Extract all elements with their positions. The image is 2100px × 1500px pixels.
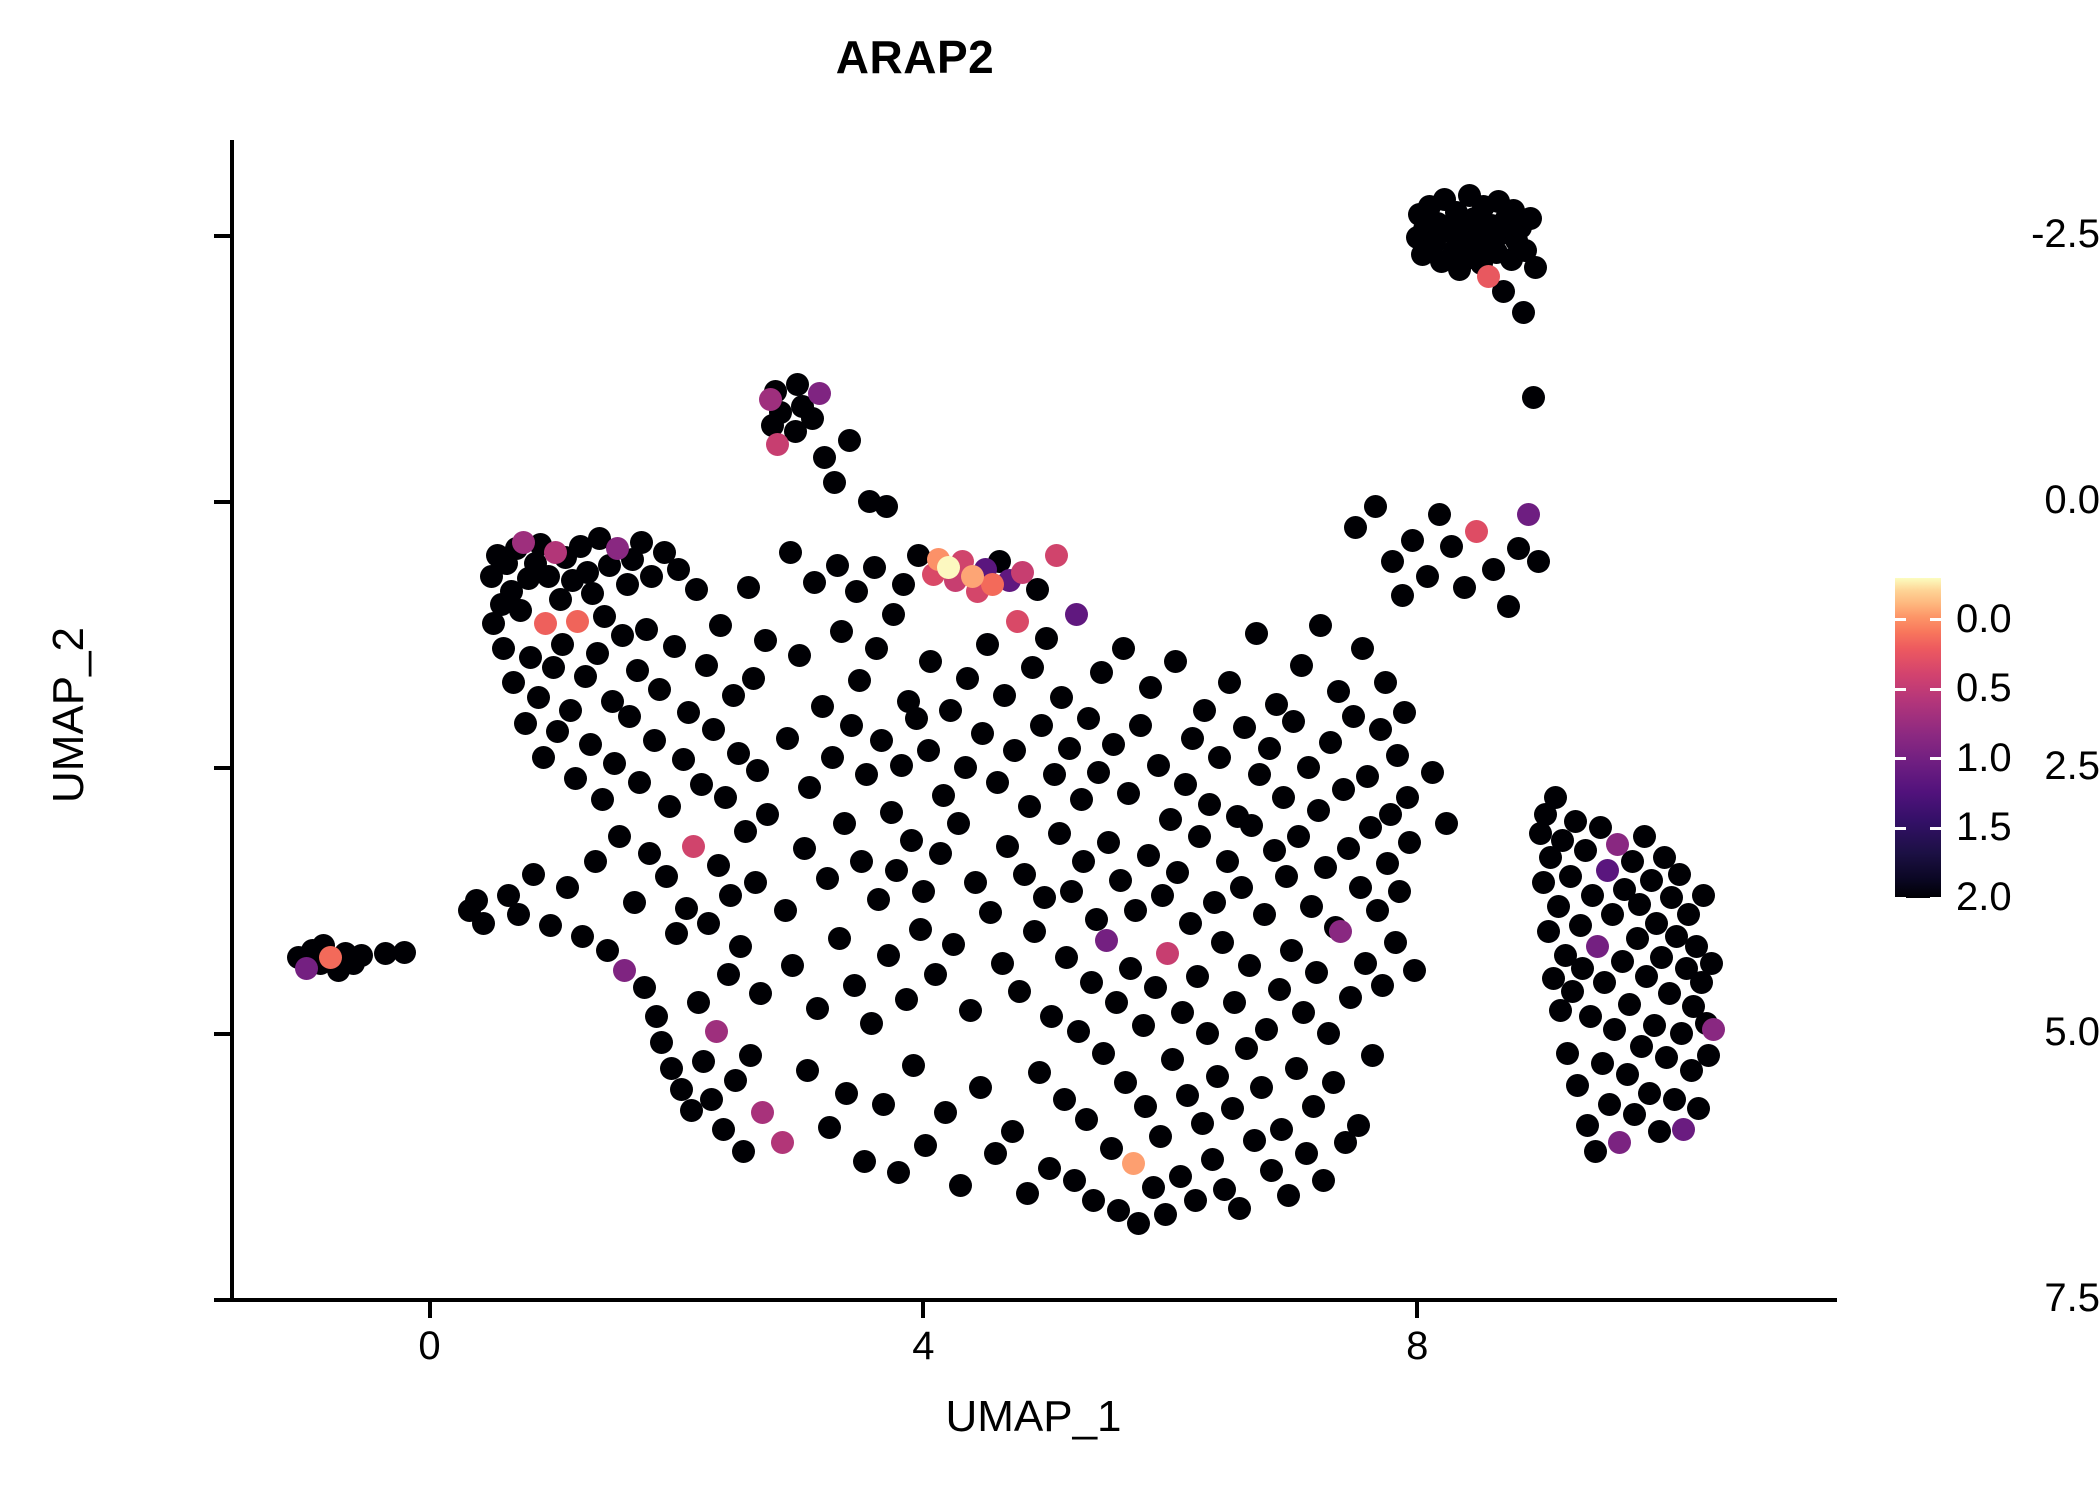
scatter-point [993, 684, 1016, 707]
scatter-point [734, 820, 757, 843]
scatter-point [1364, 495, 1387, 518]
scatter-point [1384, 931, 1407, 954]
scatter-point [1050, 686, 1073, 709]
scatter-point [1356, 765, 1379, 788]
scatter-point [606, 537, 629, 560]
scatter-point [1354, 952, 1377, 975]
scatter-point [1300, 895, 1323, 918]
scatter-point [853, 1150, 876, 1173]
scatter-point [502, 671, 525, 694]
scatter-point [1270, 1118, 1293, 1141]
scatter-point [1105, 991, 1128, 1014]
scatter-point [571, 925, 594, 948]
scatter-point [1154, 1203, 1177, 1226]
colorbar-tick-mark [1895, 757, 1906, 760]
scatter-point [514, 712, 537, 735]
scatter-point [1581, 884, 1604, 907]
scatter-point [630, 531, 653, 554]
scatter-point [779, 541, 802, 564]
scatter-point [1003, 739, 1026, 762]
scatter-point [863, 556, 886, 579]
scatter-point [1398, 831, 1421, 854]
scatter-point [1087, 761, 1110, 784]
scatter-point [1339, 986, 1362, 1009]
scatter-point [1223, 991, 1246, 1014]
scatter-point [1114, 1071, 1137, 1094]
scatter-point [608, 825, 631, 848]
scatter-point [1033, 886, 1056, 909]
scatter-point [1179, 912, 1202, 935]
scatter-point [1280, 939, 1303, 962]
scatter-point [1628, 893, 1651, 916]
scatter-point [566, 610, 589, 633]
scatter-point [1119, 957, 1142, 980]
scatter-point [1428, 503, 1451, 526]
scatter-point [1589, 816, 1612, 839]
scatter-point [633, 976, 656, 999]
scatter-point [838, 429, 861, 452]
scatter-point [705, 1020, 728, 1043]
scatter-point [949, 1174, 972, 1197]
scatter-point [798, 776, 821, 799]
scatter-point [1277, 1184, 1300, 1207]
scatter-point [803, 571, 826, 594]
scatter-point [1329, 920, 1352, 943]
scatter-point [1305, 961, 1328, 984]
scatter-point [660, 1057, 683, 1080]
scatter-point [1255, 1018, 1278, 1041]
scatter-point [880, 801, 903, 824]
scatter-point [892, 573, 915, 596]
scatter-point [1260, 1159, 1283, 1182]
y-tick-mark [214, 500, 230, 504]
scatter-point [393, 941, 416, 964]
scatter-point [492, 637, 515, 660]
scatter-point [1697, 1044, 1720, 1067]
scatter-point [902, 1054, 925, 1077]
scatter-point [672, 748, 695, 771]
scatter-point [1107, 1199, 1130, 1222]
scatter-point [1124, 899, 1147, 922]
scatter-point [751, 1101, 774, 1124]
scatter-point [534, 612, 557, 635]
scatter-point [1342, 705, 1365, 728]
scatter-point [1016, 1182, 1039, 1205]
scatter-point [729, 935, 752, 958]
scatter-point [1072, 850, 1095, 873]
scatter-point [1127, 1212, 1150, 1235]
scatter-point [964, 871, 987, 894]
scatter-point [465, 889, 488, 912]
scatter-point [855, 763, 878, 786]
scatter-point [1006, 610, 1029, 633]
scatter-point [961, 565, 984, 588]
scatter-point [549, 588, 572, 611]
scatter-point [714, 786, 737, 809]
colorbar-tick-mark [1895, 688, 1906, 691]
scatter-point [1519, 207, 1542, 230]
plot-panel [232, 140, 1837, 1300]
x-tick-label: 0 [350, 1326, 510, 1366]
scatter-point [1544, 786, 1567, 809]
scatter-point [806, 997, 829, 1020]
scatter-point [1616, 1063, 1639, 1086]
scatter-point [996, 835, 1019, 858]
scatter-point [1650, 946, 1673, 969]
scatter-point [739, 1044, 762, 1067]
scatter-point [1191, 1112, 1214, 1135]
scatter-point [1635, 965, 1658, 988]
scatter-point [1233, 716, 1256, 739]
scatter-point [860, 1012, 883, 1035]
scatter-point [840, 714, 863, 737]
scatter-point [586, 642, 609, 665]
y-axis-title: UMAP_2 [44, 415, 94, 1015]
scatter-point [872, 1093, 895, 1116]
scatter-point [1571, 957, 1594, 980]
scatter-point [1203, 891, 1226, 914]
scatter-point [1586, 935, 1609, 958]
scatter-point [1048, 822, 1071, 845]
scatter-point [870, 729, 893, 752]
scatter-point [1151, 884, 1174, 907]
scatter-point [917, 739, 940, 762]
scatter-point [692, 1050, 715, 1073]
scatter-point [1302, 1095, 1325, 1118]
scatter-point [937, 556, 960, 579]
scatter-point [788, 644, 811, 667]
scatter-point [551, 633, 574, 656]
scatter-point [1282, 710, 1305, 733]
scatter-point [1482, 558, 1505, 581]
scatter-point [826, 554, 849, 577]
scatter-point [1137, 844, 1160, 867]
y-tick-mark [214, 234, 230, 238]
scatter-point [1497, 595, 1520, 618]
scatter-point [1070, 788, 1093, 811]
scatter-point [986, 771, 1009, 794]
scatter-point [1112, 637, 1135, 660]
scatter-point [835, 1082, 858, 1105]
scatter-point [1228, 1197, 1251, 1220]
scatter-point [947, 812, 970, 835]
scatter-point [1043, 763, 1066, 786]
scatter-point [882, 603, 905, 626]
scatter-point [766, 433, 789, 456]
colorbar-tick-label: 1.0 [1956, 738, 2076, 778]
scatter-point [1097, 831, 1120, 854]
scatter-point [1263, 839, 1286, 862]
scatter-point [1221, 1097, 1244, 1120]
y-tick-mark [214, 1032, 230, 1036]
scatter-point [744, 871, 767, 894]
scatter-point [1053, 1088, 1076, 1111]
scatter-point [1366, 899, 1389, 922]
scatter-point [613, 959, 636, 982]
scatter-point [845, 580, 868, 603]
colorbar-tick-mark [1895, 618, 1906, 621]
scatter-point [616, 573, 639, 596]
scatter-point [942, 933, 965, 956]
scatter-point [645, 1005, 668, 1028]
scatter-point [850, 850, 873, 873]
scatter-point [801, 407, 824, 430]
scatter-point [875, 495, 898, 518]
scatter-point [959, 999, 982, 1022]
scatter-point [719, 884, 742, 907]
scatter-point [663, 635, 686, 658]
scatter-point [924, 963, 947, 986]
x-tick-mark [1415, 1302, 1419, 1318]
y-tick-label: 0.0 [1900, 480, 2100, 520]
scatter-point [1677, 903, 1700, 926]
scatter-point [1396, 786, 1419, 809]
scatter-point [1601, 903, 1624, 926]
scatter-point [1272, 786, 1295, 809]
scatter-point [1164, 650, 1187, 673]
scatter-point [687, 991, 710, 1014]
scatter-point [1322, 1071, 1345, 1094]
scatter-point [932, 784, 955, 807]
y-tick-label: 5.0 [1900, 1012, 2100, 1052]
scatter-point [811, 695, 834, 718]
scatter-point [623, 891, 646, 914]
scatter-point [702, 718, 725, 741]
scatter-point [1238, 954, 1261, 977]
scatter-point [907, 544, 930, 567]
scatter-point [695, 654, 718, 677]
scatter-point [1337, 837, 1360, 860]
scatter-point [1593, 971, 1616, 994]
scatter-point [759, 388, 782, 411]
scatter-point [742, 667, 765, 690]
scatter-point [939, 699, 962, 722]
scatter-point [1038, 1157, 1061, 1180]
colorbar-tick-mark [1930, 757, 1941, 760]
scatter-point [1347, 1114, 1370, 1137]
scatter-point [754, 629, 777, 652]
scatter-point [1117, 782, 1140, 805]
x-tick-mark [921, 1302, 925, 1318]
chart-page: ARAP2 7.55.02.50.0-2.5 048 UMAP_1 UMAP_2… [0, 0, 2100, 1500]
scatter-point [667, 558, 690, 581]
scatter-point [1169, 1165, 1192, 1188]
scatter-point [640, 565, 663, 588]
scatter-point [1245, 622, 1268, 645]
scatter-point [1055, 946, 1078, 969]
scatter-point [537, 565, 560, 588]
scatter-point [1092, 1042, 1115, 1065]
scatter-point [1317, 1022, 1340, 1045]
scatter-point [1045, 544, 1068, 567]
scatter-point [655, 865, 678, 888]
scatter-point [1351, 637, 1374, 660]
scatter-point [1240, 814, 1263, 837]
scatter-point [1060, 880, 1083, 903]
scatter-point [650, 1031, 673, 1054]
scatter-point [984, 1142, 1007, 1165]
scatter-point [1391, 584, 1414, 607]
scatter-point [1670, 1022, 1693, 1045]
scatter-point [1692, 884, 1715, 907]
scatter-point [1297, 756, 1320, 779]
scatter-point [658, 795, 681, 818]
scatter-point [929, 842, 952, 865]
x-axis-line [230, 1298, 1837, 1302]
scatter-point [1275, 865, 1298, 888]
scatter-point [1312, 1169, 1335, 1192]
scatter-point [556, 876, 579, 899]
scatter-point [1011, 561, 1034, 584]
scatter-point [1453, 576, 1476, 599]
scatter-point [1416, 565, 1439, 588]
scatter-point [1522, 386, 1545, 409]
scatter-point [1147, 754, 1170, 777]
scatter-point [559, 699, 582, 722]
scatter-point [1435, 812, 1458, 835]
scatter-point [1561, 980, 1584, 1003]
scatter-point [1287, 825, 1310, 848]
scatter-point [1440, 535, 1463, 558]
scatter-point [1021, 656, 1044, 679]
scatter-point [793, 837, 816, 860]
scatter-point [1142, 1176, 1165, 1199]
scatter-point [584, 850, 607, 873]
colorbar-tick-label: 0.5 [1956, 668, 2076, 708]
scatter-point [776, 727, 799, 750]
scatter-point [722, 684, 745, 707]
scatter-point [522, 863, 545, 886]
scatter-point [350, 944, 373, 967]
scatter-point [1556, 1042, 1579, 1065]
scatter-point [1559, 865, 1582, 888]
scatter-point [697, 912, 720, 935]
scatter-point [527, 686, 550, 709]
scatter-point [1216, 850, 1239, 873]
scatter-point [581, 582, 604, 605]
scatter-point [823, 471, 846, 494]
scatter-point [890, 754, 913, 777]
scatter-point [319, 946, 342, 969]
scatter-point [1144, 976, 1167, 999]
scatter-point [1250, 1076, 1273, 1099]
scatter-point [1008, 980, 1031, 1003]
scatter-point [1369, 718, 1392, 741]
scatter-point [1507, 537, 1530, 560]
scatter-point [1201, 1148, 1224, 1171]
scatter-point [579, 733, 602, 756]
scatter-point [1626, 927, 1649, 950]
scatter-point [887, 1161, 910, 1184]
scatter-point [1149, 1125, 1172, 1148]
x-tick-mark [428, 1302, 432, 1318]
scatter-point [1013, 863, 1036, 886]
scatter-point [1579, 1005, 1602, 1028]
scatter-point [1161, 1048, 1184, 1071]
scatter-point [1174, 773, 1197, 796]
scatter-point [1018, 795, 1041, 818]
colorbar-tick-mark [1930, 688, 1941, 691]
scatter-point [737, 576, 760, 599]
scatter-point [1235, 1037, 1258, 1060]
scatter-point [1292, 1001, 1315, 1024]
scatter-point [1080, 971, 1103, 994]
scatter-point [1618, 993, 1641, 1016]
colorbar-gradient [1895, 578, 1941, 898]
scatter-point [1082, 1189, 1105, 1212]
scatter-point [1379, 803, 1402, 826]
scatter-point [1290, 654, 1313, 677]
scatter-point [1633, 825, 1656, 848]
x-axis-title: UMAP_1 [230, 1392, 1837, 1442]
scatter-point [1630, 1035, 1653, 1058]
scatter-point [1512, 301, 1535, 324]
scatter-point [512, 531, 535, 554]
scatter-point [509, 599, 532, 622]
scatter-point [1658, 982, 1681, 1005]
scatter-point [1477, 265, 1500, 288]
scatter-point [1376, 852, 1399, 875]
scatter-point [670, 1078, 693, 1101]
scatter-point [1132, 1014, 1155, 1037]
scatter-point [603, 752, 626, 775]
scatter-point [1063, 1169, 1086, 1192]
scatter-point [717, 963, 740, 986]
colorbar-tick-mark [1895, 897, 1906, 900]
scatter-point [1100, 1137, 1123, 1160]
scatter-point [1196, 1022, 1219, 1045]
scatter-point [981, 573, 1004, 596]
scatter-point [969, 1076, 992, 1099]
colorbar-tick-mark [1930, 827, 1941, 830]
scatter-point [1608, 1131, 1631, 1154]
scatter-point [1193, 699, 1216, 722]
scatter-point [295, 957, 318, 980]
scatter-point [680, 1099, 703, 1122]
scatter-point [1371, 974, 1394, 997]
scatter-point [914, 1134, 937, 1157]
scatter-point [1001, 1120, 1024, 1143]
scatter-point [626, 659, 649, 682]
scatter-point [574, 665, 597, 688]
scatter-point [1077, 707, 1100, 730]
scatter-point [885, 859, 908, 882]
scatter-point [1603, 1018, 1626, 1041]
scatter-point [1606, 833, 1629, 856]
scatter-point [1139, 676, 1162, 699]
scatter-point [919, 650, 942, 673]
scatter-point [1058, 737, 1081, 760]
scatter-point [643, 729, 666, 752]
scatter-point [675, 897, 698, 920]
scatter-point [971, 722, 994, 745]
scatter-point [895, 988, 918, 1011]
scatter-point [1566, 1074, 1589, 1097]
scatter-point [727, 742, 750, 765]
scatter-point [828, 927, 851, 950]
scatter-point [1584, 1140, 1607, 1163]
scatter-point [707, 854, 730, 877]
scatter-point [591, 788, 614, 811]
scatter-point [519, 646, 542, 669]
scatter-point [1307, 799, 1330, 822]
scatter-point [1176, 1084, 1199, 1107]
scatter-point [546, 720, 569, 743]
scatter-point [1421, 761, 1444, 784]
scatter-point [1040, 1005, 1063, 1028]
scatter-point [1640, 869, 1663, 892]
scatter-point [1265, 693, 1288, 716]
